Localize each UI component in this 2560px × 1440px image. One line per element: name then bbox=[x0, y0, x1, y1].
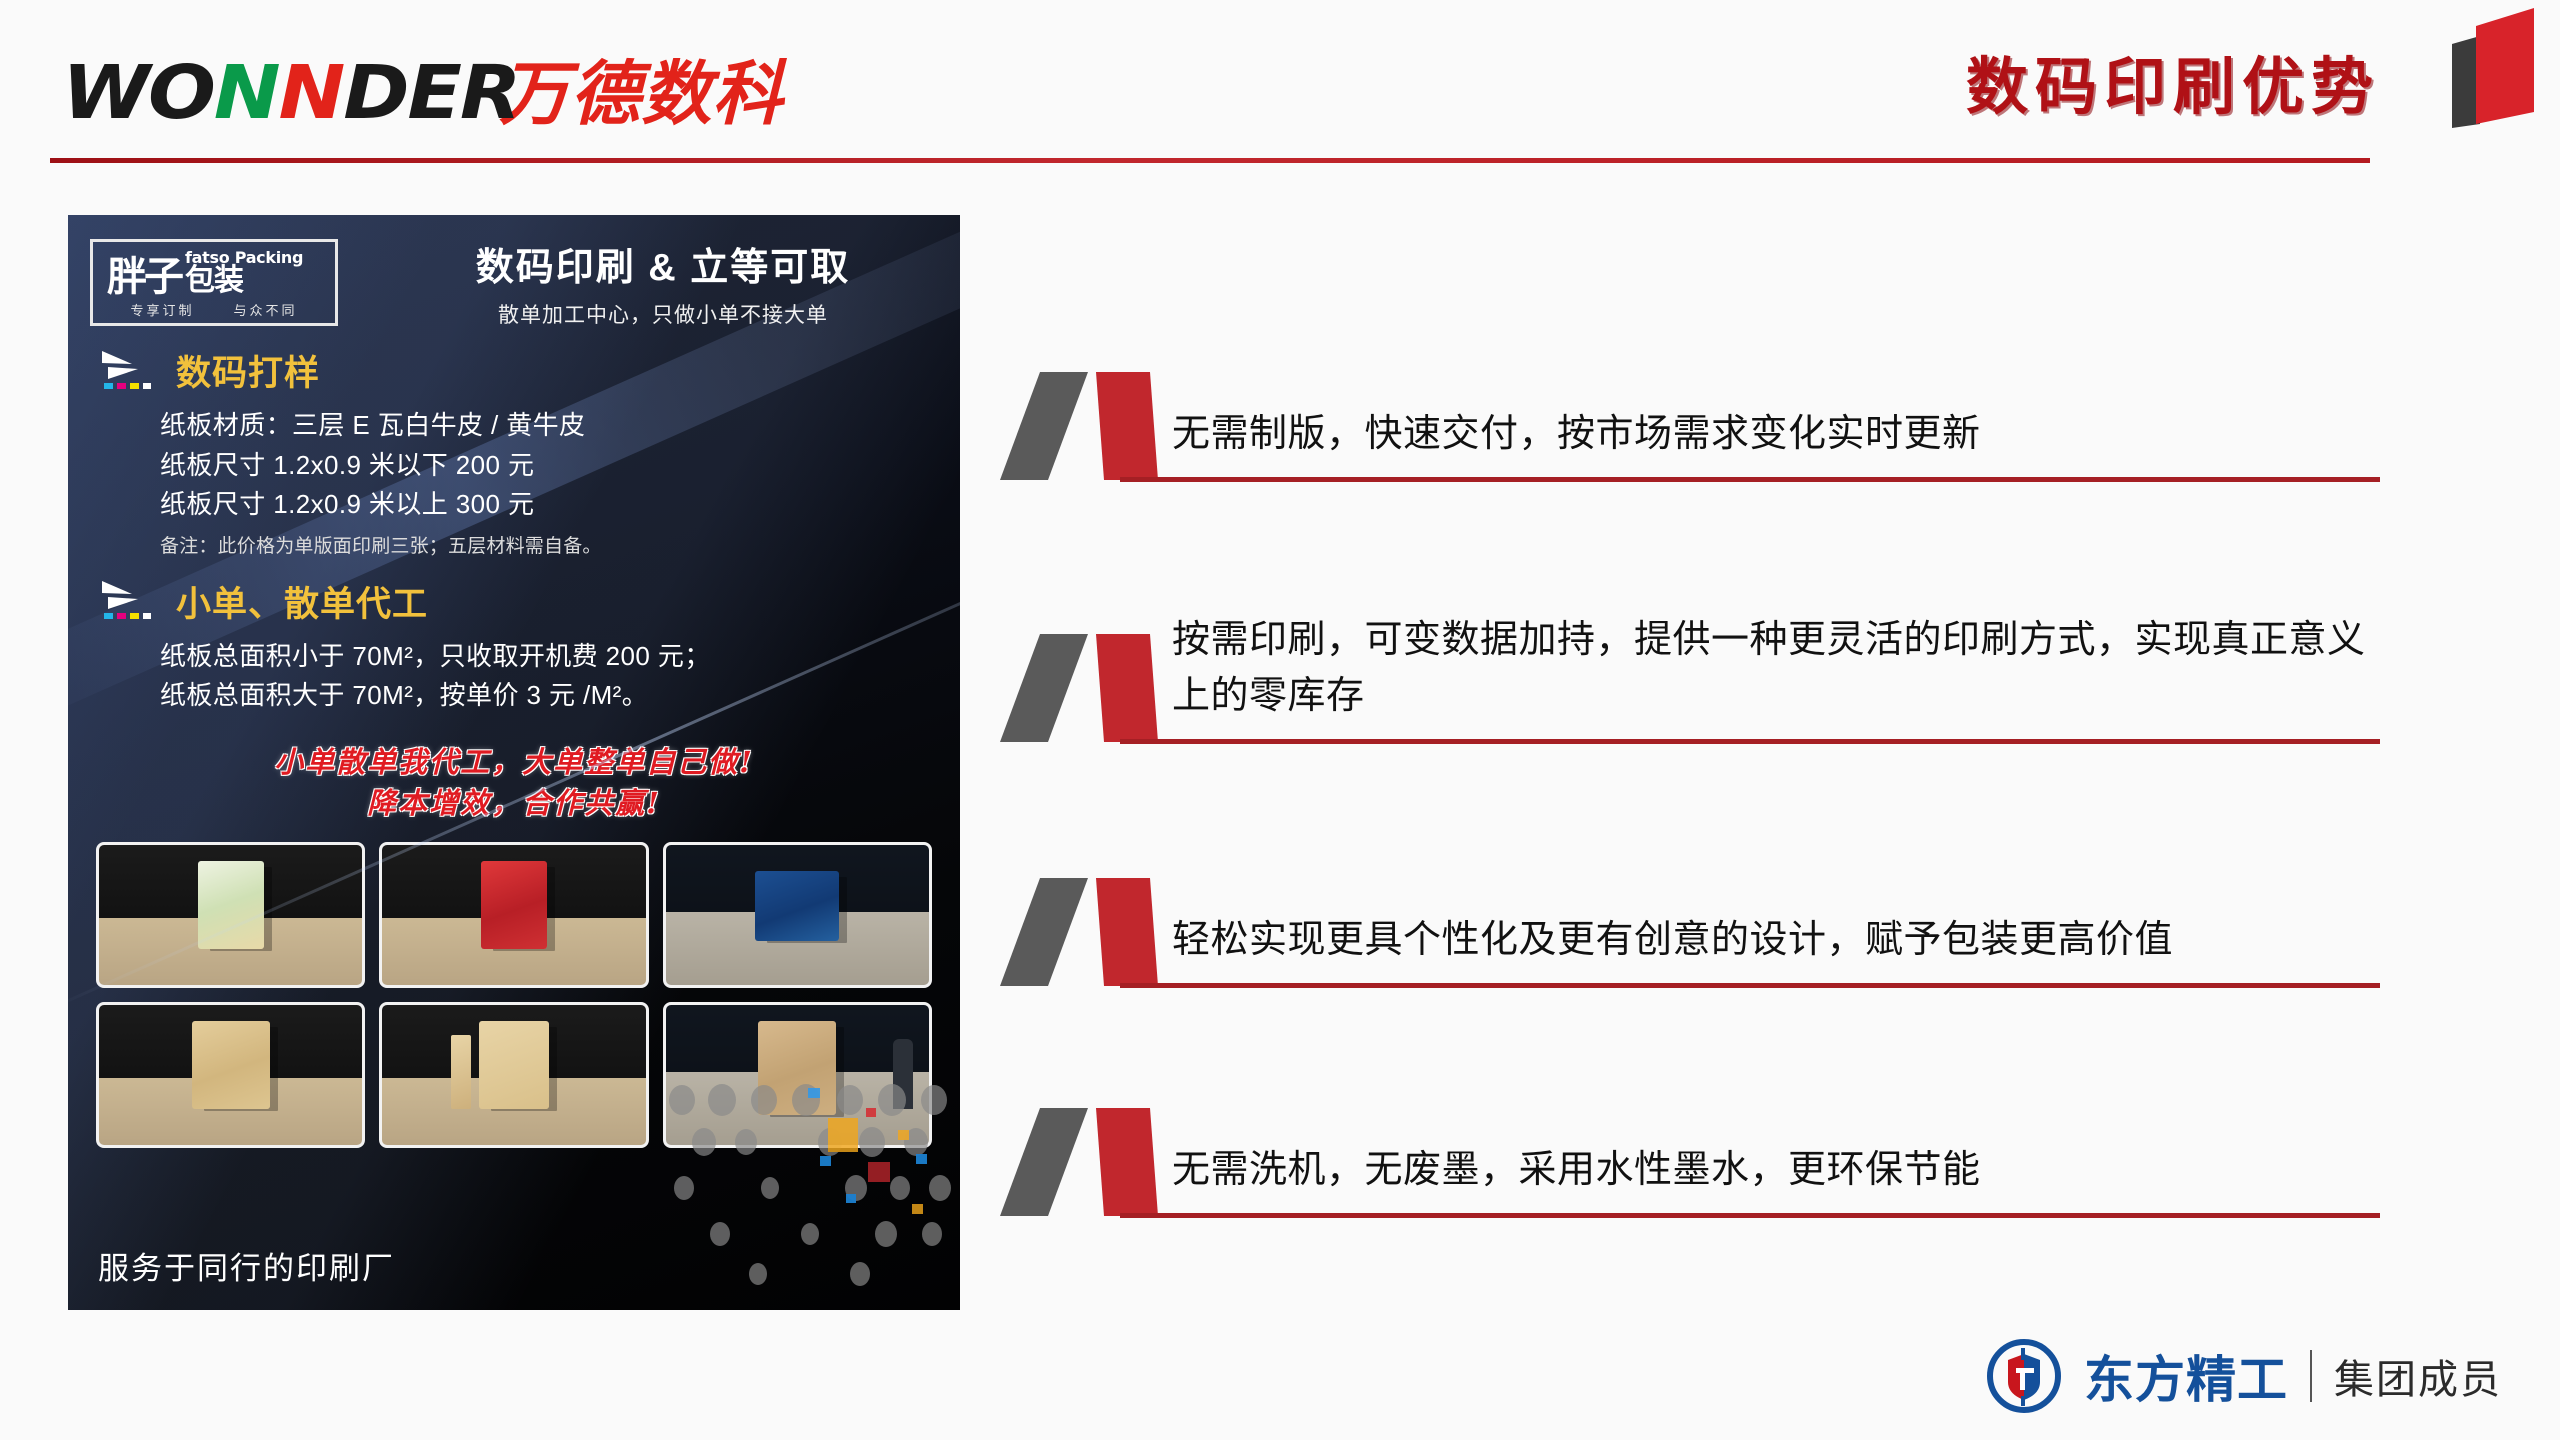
product-photo bbox=[379, 842, 648, 988]
advantages-list: 无需制版，快速交付，按市场需求变化实时更新 按需印刷，可变数据加持，提供一种更灵… bbox=[1000, 250, 2380, 1218]
chevron-arrow-cmyk-icon bbox=[98, 579, 160, 623]
list-item-text: 无需制版，快速交付，按市场需求变化实时更新 bbox=[1172, 407, 2380, 462]
group-member-logo: 东方精工 集团成员 bbox=[1986, 1338, 2502, 1414]
group-logo-subtitle: 集团成员 bbox=[2334, 1347, 2502, 1405]
list-item-text: 按需印刷，可变数据加持，提供一种更灵活的印刷方式，实现真正意义上的零库存 bbox=[1172, 613, 2380, 724]
logo-wordmark-n-red: N bbox=[279, 50, 344, 136]
dongfang-shield-circle-icon bbox=[1986, 1338, 2062, 1414]
logo-wordmark-n-green: N bbox=[214, 50, 279, 136]
section-title: 数码打样 bbox=[176, 345, 320, 396]
gray-red-slash-marker-icon bbox=[1000, 370, 1190, 482]
gray-red-slash-marker-icon bbox=[1000, 876, 1190, 988]
list-item-text: 无需洗机，无废墨，采用水性墨水，更环保节能 bbox=[1172, 1143, 2380, 1198]
poster-section-digital-proofing: 数码打样 纸板材质：三层 E 瓦白牛皮 / 黄牛皮 纸板尺寸 1.2x0.9 米… bbox=[68, 345, 960, 558]
fatso-brand-logo: 胖子 fatso Packing 包装 专享订制 与众不同 bbox=[90, 239, 338, 326]
poster-headline-main: 数码印刷 & 立等可取 bbox=[394, 236, 932, 291]
header-divider bbox=[50, 158, 2370, 163]
gray-red-slash-marker-icon bbox=[1000, 1106, 1190, 1218]
brand-name-pack: 包装 bbox=[185, 266, 303, 296]
section-line: 纸板总面积小于 70M²，只收取开机费 200 元； bbox=[160, 637, 934, 677]
poster-slogan-line2: 降本增效，合作共赢! bbox=[68, 783, 960, 824]
poster-headline-sub: 散单加工中心，只做小单不接大单 bbox=[394, 299, 932, 329]
poster-slogan-line1: 小单散单我代工，大单整单自己做! bbox=[68, 742, 960, 783]
logo-wordmark-post: DER bbox=[343, 50, 519, 136]
product-photo bbox=[379, 1002, 648, 1148]
logo-wordmark-pre: WO bbox=[62, 50, 214, 136]
poster-header: 胖子 fatso Packing 包装 专享订制 与众不同 数码印刷 & 立等可… bbox=[68, 215, 960, 327]
page-title: 数码印刷优势 bbox=[1966, 36, 2380, 126]
gray-red-slash-marker-icon bbox=[1000, 632, 1190, 744]
halftone-dots-decoration-icon bbox=[660, 1084, 960, 1294]
chevron-arrow-cmyk-icon bbox=[98, 349, 160, 393]
logo-wordmark-en: WONNDER bbox=[62, 50, 519, 136]
slide-root: WONNDER 万德数科 数码印刷优势 胖子 fatso Packing 包装 … bbox=[0, 0, 2560, 1440]
list-item: 无需制版，快速交付，按市场需求变化实时更新 bbox=[1000, 250, 2380, 482]
product-photo bbox=[96, 842, 365, 988]
logo-wordmark-cn: 万德数科 bbox=[499, 38, 783, 139]
product-photo bbox=[96, 1002, 365, 1148]
list-item: 无需洗机，无废墨，采用水性墨水，更环保节能 bbox=[1000, 988, 2380, 1218]
poster-slogan: 小单散单我代工，大单整单自己做! 降本增效，合作共赢! bbox=[68, 742, 960, 824]
corner-parallelogram-icon bbox=[2446, 4, 2542, 128]
poster-headline-block: 数码印刷 & 立等可取 散单加工中心，只做小单不接大单 bbox=[394, 236, 932, 329]
brand-tagline-left: 专享订制 bbox=[130, 300, 194, 319]
list-item: 轻松实现更具个性化及更有创意的设计，赋予包装更高价值 bbox=[1000, 744, 2380, 988]
section-line: 纸板总面积大于 70M²，按单价 3 元 /M²。 bbox=[160, 676, 934, 716]
group-logo-name: 东方精工 bbox=[2084, 1340, 2288, 1412]
company-logo: WONNDER 万德数科 bbox=[62, 38, 783, 139]
brand-tagline-right: 与众不同 bbox=[233, 300, 297, 319]
section-line: 纸板尺寸 1.2x0.9 米以下 200 元 bbox=[160, 446, 934, 486]
brand-name-fat: 胖子 bbox=[107, 258, 181, 296]
promo-poster-image: 胖子 fatso Packing 包装 专享订制 与众不同 数码印刷 & 立等可… bbox=[68, 215, 960, 1310]
section-line: 纸板材质：三层 E 瓦白牛皮 / 黄牛皮 bbox=[160, 406, 934, 446]
group-logo-divider bbox=[2310, 1350, 2312, 1402]
poster-footer-text: 服务于同行的印刷厂 bbox=[98, 1243, 395, 1288]
list-item-underline bbox=[1120, 1213, 2380, 1218]
section-title: 小单、散单代工 bbox=[176, 576, 428, 627]
list-item-text: 轻松实现更具个性化及更有创意的设计，赋予包装更高价值 bbox=[1172, 913, 2380, 968]
product-photo bbox=[663, 842, 932, 988]
list-item: 按需印刷，可变数据加持，提供一种更灵活的印刷方式，实现真正意义上的零库存 bbox=[1000, 482, 2380, 744]
poster-section-small-order-oem: 小单、散单代工 纸板总面积小于 70M²，只收取开机费 200 元； 纸板总面积… bbox=[68, 576, 960, 716]
section-line: 纸板尺寸 1.2x0.9 米以上 300 元 bbox=[160, 485, 934, 525]
section-note: 备注：此价格为单版面印刷三张；五层材料需自备。 bbox=[160, 531, 934, 558]
